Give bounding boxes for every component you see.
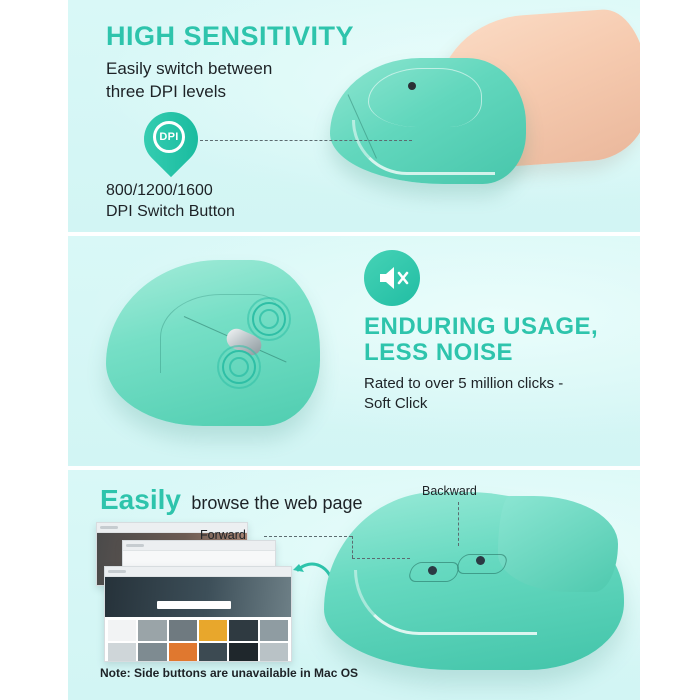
click-ripple-icon xyxy=(222,350,256,384)
forward-callout-label: Forward xyxy=(200,528,246,542)
forward-button-marker xyxy=(428,566,437,575)
forward-leader-line xyxy=(264,536,352,537)
grid-thumb xyxy=(229,643,257,662)
grid-thumb xyxy=(138,620,166,641)
browser-window-stack xyxy=(96,522,328,660)
forward-leader-line-lower xyxy=(352,558,410,559)
grid-thumb xyxy=(169,643,197,662)
backward-button-marker xyxy=(476,556,485,565)
browser-titlebar xyxy=(105,567,291,577)
grid-thumb xyxy=(260,620,288,641)
mute-speaker-icon xyxy=(364,250,420,306)
vertical-mouse-graphic xyxy=(330,58,526,184)
vertical-mouse-photo xyxy=(88,240,358,462)
forward-leader-line-vertical xyxy=(352,536,353,558)
dpi-pin-icon: DPI xyxy=(144,112,198,184)
panel-1-headline: HIGH SENSITIVITY xyxy=(106,22,354,51)
dpi-leader-line xyxy=(200,140,412,141)
grid-thumb xyxy=(138,643,166,662)
grid-thumb xyxy=(108,620,136,641)
grid-thumb xyxy=(229,620,257,641)
pin-ring: DPI xyxy=(153,121,185,153)
panel-high-sensitivity: HIGH SENSITIVITY Easily switch between t… xyxy=(68,0,640,232)
grid-thumb xyxy=(199,643,227,662)
product-feature-infographic: HIGH SENSITIVITY Easily switch between t… xyxy=(0,0,700,700)
vertical-mouse-side-view xyxy=(324,492,624,670)
grid-thumb xyxy=(169,620,197,641)
dpi-button-dot xyxy=(408,82,416,90)
panel-2-subtext: Rated to over 5 million clicks - Soft Cl… xyxy=(364,374,563,414)
panel-browse-web-page: Easily browse the web page xyxy=(68,470,640,700)
mac-os-note: Note: Side buttons are unavailable in Ma… xyxy=(100,666,358,682)
hand-with-vertical-mouse-photo xyxy=(320,0,640,232)
panel-2-headline: ENDURING USAGE, LESS NOISE xyxy=(364,314,598,366)
browser-titlebar xyxy=(123,541,275,551)
browser-image-grid xyxy=(105,617,291,662)
click-ripple-icon xyxy=(252,302,286,336)
grid-thumb xyxy=(260,643,288,662)
backward-leader-line xyxy=(458,502,459,546)
panel-enduring-usage: ENDURING USAGE, LESS NOISE Rated to over… xyxy=(68,236,640,466)
dpi-switch-caption: 800/1200/1600 DPI Switch Button xyxy=(106,180,235,223)
headline-accent-word: Easily xyxy=(100,484,181,515)
grid-thumb xyxy=(199,620,227,641)
dpi-pin-label: DPI xyxy=(159,131,178,143)
vertical-mouse-graphic xyxy=(106,260,320,426)
mouse-top-button xyxy=(368,68,482,127)
browser-hero-banner xyxy=(105,577,291,617)
panel-1-subtext: Easily switch between three DPI levels xyxy=(106,58,272,103)
browser-window-front xyxy=(104,566,292,662)
grid-thumb xyxy=(108,643,136,662)
backward-callout-label: Backward xyxy=(422,484,477,498)
